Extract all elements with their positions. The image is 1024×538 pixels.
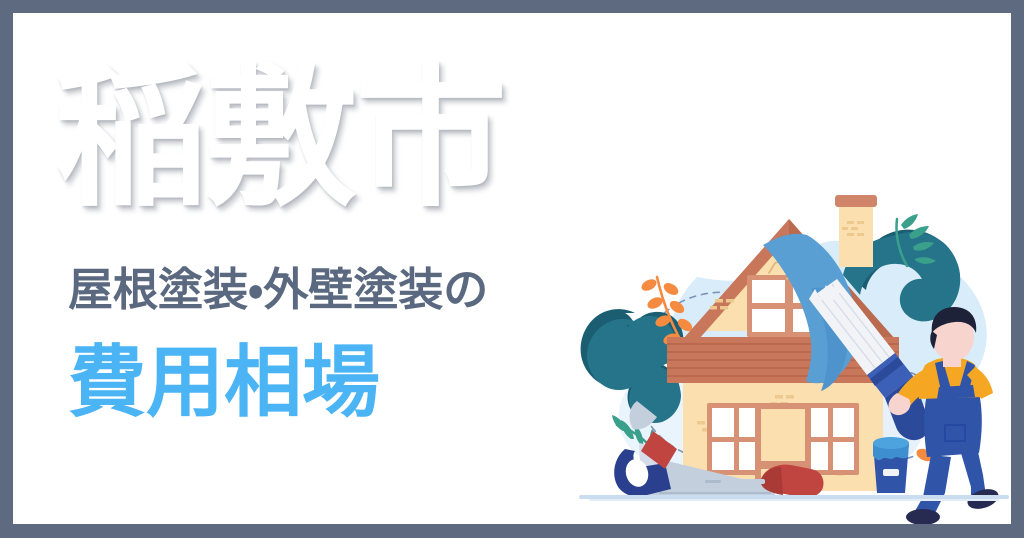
page-title-city: 稲敷市	[55, 63, 505, 215]
paint-bucket	[873, 437, 909, 493]
chimney	[835, 195, 877, 267]
banner-inner-panel: 稲敷市 屋根塗装・外壁塗装の 費用相場	[13, 13, 1011, 524]
house-painting-illustration	[579, 181, 1011, 524]
page-subtitle-service: 屋根塗装・外壁塗装の	[68, 267, 488, 312]
banner: 稲敷市 屋根塗装・外壁塗装の 費用相場	[0, 0, 1024, 538]
headline-block: 稲敷市 屋根塗装・外壁塗装の 費用相場	[55, 49, 575, 469]
ground-line-soft	[589, 499, 999, 501]
ground-line	[579, 495, 1009, 499]
page-title-highlight: 費用相場	[68, 344, 380, 422]
